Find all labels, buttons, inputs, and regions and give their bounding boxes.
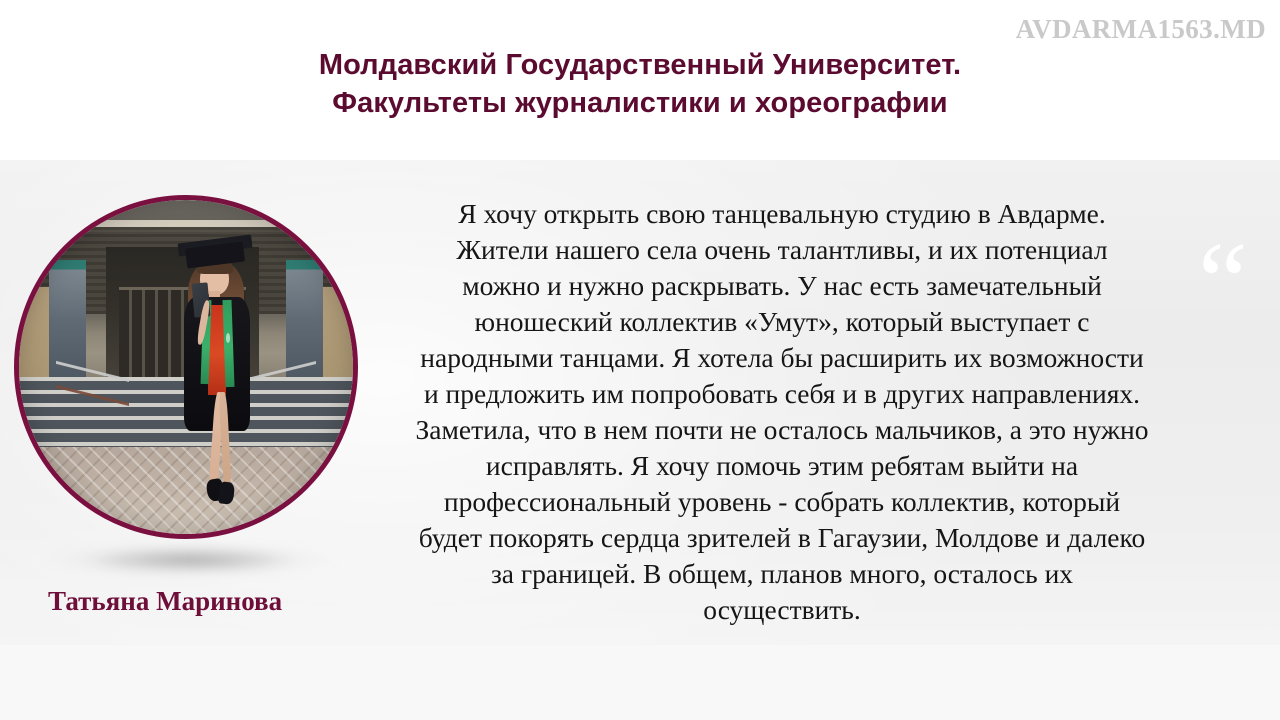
figure-stole-emblem — [226, 333, 230, 343]
quote-text: Я хочу открыть свою танцевальную студию … — [372, 196, 1192, 628]
person-name-caption: Татьяна Маринова — [48, 586, 282, 617]
quote-mark-icon: “ — [1198, 226, 1248, 338]
page-title: Молдавский Государственный Университет. … — [0, 46, 1280, 122]
figure-shoe-right — [218, 481, 235, 505]
footer-band — [0, 645, 1280, 720]
header-band: AVDARMA1563.MD Молдавский Государственны… — [0, 0, 1280, 160]
graduate-figure — [176, 243, 276, 524]
portrait-shadow — [40, 543, 340, 577]
quote-block: Я хочу открыть свою танцевальную студию … — [372, 196, 1192, 628]
site-watermark: AVDARMA1563.MD — [1016, 14, 1266, 45]
portrait-frame — [14, 195, 358, 539]
slide-root: AVDARMA1563.MD Молдавский Государственны… — [0, 0, 1280, 720]
title-line-2: Факультеты журналистики и хореографии — [0, 84, 1280, 122]
title-line-1: Молдавский Государственный Университет. — [0, 46, 1280, 84]
graduate-photo — [19, 200, 353, 534]
